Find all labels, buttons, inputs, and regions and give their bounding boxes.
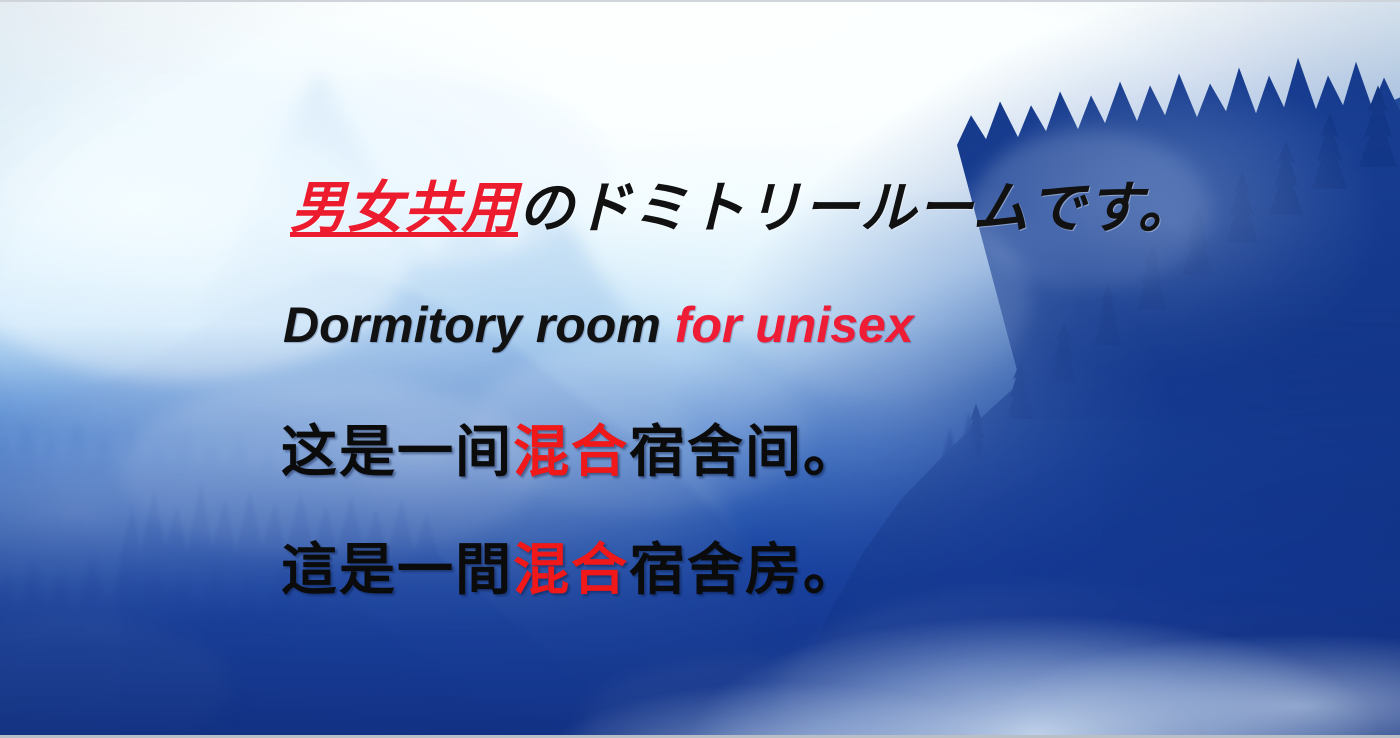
english-caption-line: Dormitory room for unisex xyxy=(283,300,914,350)
japanese-highlight-text: 男女共用 xyxy=(290,176,518,239)
japanese-caption-line: 男女共用のドミトリールームです。 xyxy=(290,180,1195,236)
chinese-traditional-after-text: 宿舍房。 xyxy=(629,538,861,601)
english-normal-text: Dormitory room xyxy=(283,297,675,353)
caption-text-block: 男女共用のドミトリールームです。 Dormitory room for unis… xyxy=(0,2,1400,738)
chinese-simplified-before-text: 这是一间 xyxy=(281,420,513,483)
chinese-traditional-before-text: 這是一間 xyxy=(281,538,513,601)
chinese-traditional-caption-line: 這是一間混合宿舍房。 xyxy=(281,542,861,598)
chinese-simplified-highlight-text: 混合 xyxy=(513,420,629,483)
slide-canvas: 男女共用のドミトリールームです。 Dormitory room for unis… xyxy=(0,0,1400,738)
chinese-simplified-caption-line: 这是一间混合宿舍间。 xyxy=(281,424,861,480)
chinese-simplified-after-text: 宿舍间。 xyxy=(629,420,861,483)
english-highlight-text: for unisex xyxy=(675,297,914,353)
japanese-rest-text: のドミトリールームです。 xyxy=(518,176,1195,239)
chinese-traditional-highlight-text: 混合 xyxy=(513,538,629,601)
